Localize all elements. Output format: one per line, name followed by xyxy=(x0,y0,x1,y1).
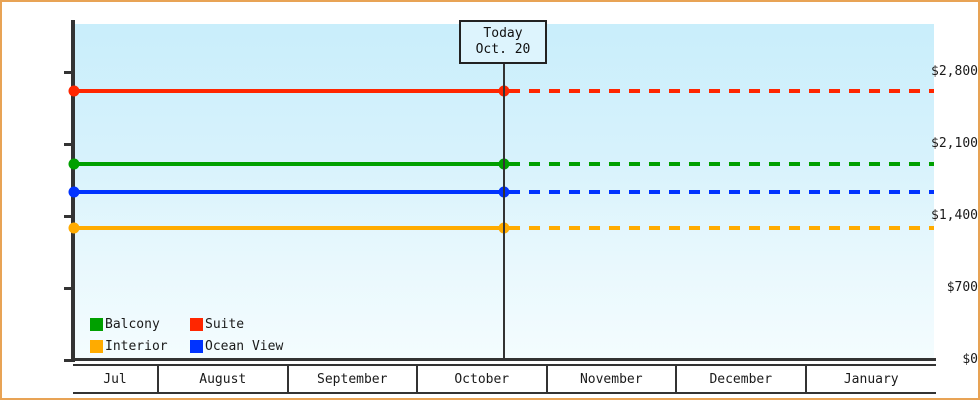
series-line-dashed xyxy=(509,89,934,93)
today-vertical-line xyxy=(503,24,505,360)
legend-swatch-icon xyxy=(90,340,103,353)
month-cell-november[interactable]: November xyxy=(548,366,678,392)
month-cell-december[interactable]: December xyxy=(677,366,807,392)
y-tick-label: $2,800 xyxy=(916,65,978,78)
legend-item[interactable]: Balcony xyxy=(90,317,190,332)
month-cell-august[interactable]: August xyxy=(159,366,289,392)
legend-label: Interior xyxy=(105,339,168,354)
legend-item[interactable]: Suite xyxy=(190,317,283,332)
series-start-point xyxy=(69,223,80,234)
legend-item[interactable]: Interior xyxy=(90,339,190,354)
month-cell-january[interactable]: January xyxy=(807,366,937,392)
series-line-solid xyxy=(73,89,505,93)
legend-swatch-icon xyxy=(190,318,203,331)
chart-legend: BalconySuiteInteriorOcean View xyxy=(90,313,283,357)
today-date: Oct. 20 xyxy=(476,42,531,58)
y-tick-mark xyxy=(64,71,73,74)
series-line-solid xyxy=(73,162,505,166)
series-start-point xyxy=(69,187,80,198)
series-line-solid xyxy=(73,226,505,230)
month-cell-jul[interactable]: Jul xyxy=(73,366,159,392)
legend-swatch-icon xyxy=(190,340,203,353)
y-tick-mark xyxy=(64,287,73,290)
legend-label: Balcony xyxy=(105,317,160,332)
series-line-dashed xyxy=(509,226,934,230)
y-tick-label: $2,100 xyxy=(916,137,978,150)
y-tick-label: $1,400 xyxy=(916,209,978,222)
y-tick-label: $700 xyxy=(916,281,978,294)
today-label: Today xyxy=(483,26,522,42)
y-tick-mark xyxy=(64,143,73,146)
x-axis-month-bar: JulAugustSeptemberOctoberNovemberDecembe… xyxy=(73,364,936,394)
series-start-point xyxy=(69,86,80,97)
month-cell-october[interactable]: October xyxy=(418,366,548,392)
month-cell-september[interactable]: September xyxy=(289,366,419,392)
series-line-solid xyxy=(73,190,505,194)
price-trend-chart: $0$700$1,400$2,100$2,800 Today Oct. 20 B… xyxy=(0,0,980,400)
today-callout: Today Oct. 20 xyxy=(459,20,547,64)
series-start-point xyxy=(69,159,80,170)
series-line-dashed xyxy=(509,190,934,194)
legend-label: Ocean View xyxy=(205,339,283,354)
legend-label: Suite xyxy=(205,317,244,332)
y-tick-mark xyxy=(64,215,73,218)
series-line-dashed xyxy=(509,162,934,166)
legend-item[interactable]: Ocean View xyxy=(190,339,283,354)
legend-swatch-icon xyxy=(90,318,103,331)
